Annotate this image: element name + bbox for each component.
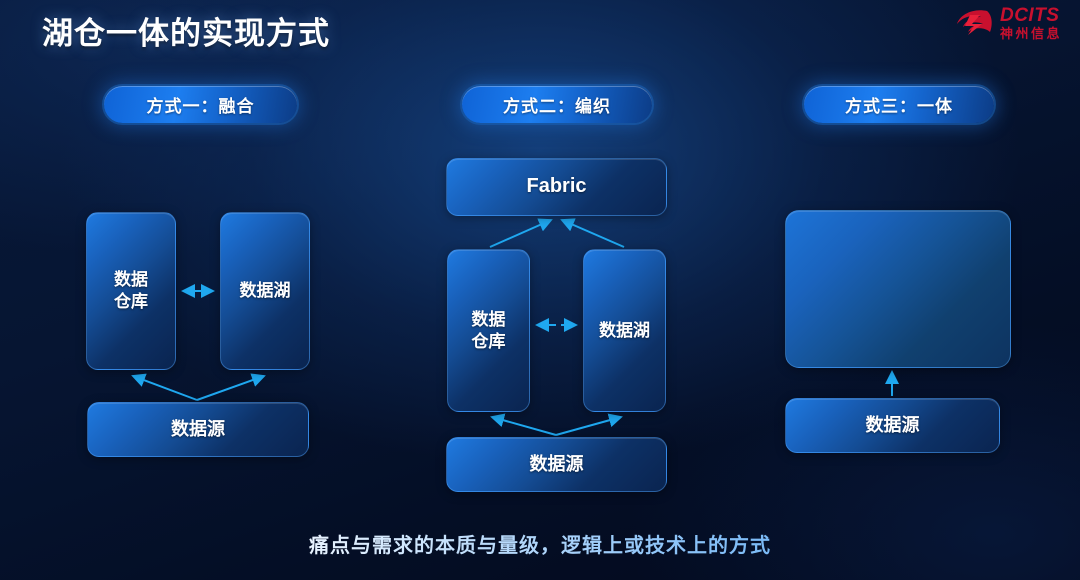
page-title: 湖仓一体的实现方式: [42, 8, 330, 53]
dcits-swirl-icon: [954, 6, 994, 40]
arrow-c1-source-to-lake: [197, 376, 264, 400]
box-c2-data-warehouse[interactable]: 数据仓库: [447, 249, 530, 412]
slide-canvas: 湖仓一体的实现方式 DCITS 神州信息 方式一：融合 方式二：编织 方式三：一…: [0, 0, 1080, 580]
box-c1-data-warehouse[interactable]: 数据仓库: [86, 212, 176, 370]
footer-caption: 痛点与需求的本质与量级，逻辑上或技术上的方式: [0, 529, 1080, 558]
method-pill-2[interactable]: 方式二：编织: [462, 86, 652, 123]
box-c2-data-source[interactable]: 数据源: [446, 437, 667, 492]
box-c2-data-lake[interactable]: 数据湖: [583, 249, 666, 412]
method-pill-3[interactable]: 方式三：一体: [804, 86, 994, 123]
arrow-c2-lake-to-fabric: [562, 220, 624, 247]
brand-logo: DCITS 神州信息: [954, 6, 1062, 40]
box-c2-fabric[interactable]: Fabric: [446, 158, 667, 216]
method-pill-1[interactable]: 方式一：融合: [104, 86, 297, 123]
box-c1-data-source[interactable]: 数据源: [87, 402, 309, 457]
box-c3-data-source[interactable]: 数据源: [785, 398, 1000, 453]
box-c1-data-lake[interactable]: 数据湖: [220, 212, 310, 370]
arrow-c2-warehouse-to-fabric: [490, 220, 551, 247]
logo-text-en: DCITS: [1000, 6, 1062, 25]
box-c3-unified-container[interactable]: 数据仓库 数据湖: [785, 210, 1011, 368]
arrow-c1-source-to-warehouse: [133, 376, 197, 400]
arrow-c2-source-to-lake: [556, 417, 621, 435]
logo-text-cn: 神州信息: [1000, 27, 1062, 40]
arrow-c2-source-to-warehouse: [492, 417, 556, 435]
